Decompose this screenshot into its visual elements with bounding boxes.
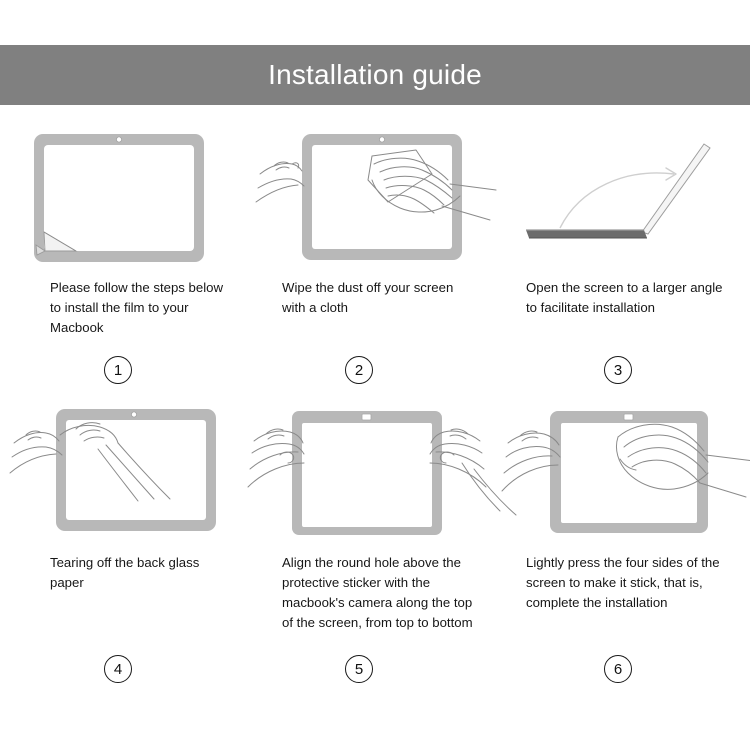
step-2-caption: Wipe the dust off your screen with a clo… [264,278,486,318]
step-5-caption: Align the round hole above the protectiv… [264,553,486,633]
step-item-5: Align the round hole above the protectiv… [250,403,500,678]
step-item-1: Please follow the steps below to install… [0,128,250,403]
step-3-number-badge: 3 [604,356,632,384]
steps-grid: Please follow the steps below to install… [0,128,750,678]
hand-pressing-screen-icon [514,403,750,543]
step-item-3: Open the screen to a larger angle to fac… [500,128,750,403]
step-item-4: Tearing off the back glass paper 4 [0,403,250,678]
step-6-illustration [514,403,736,543]
installation-guide-banner: Installation guide [0,45,750,105]
hand-tearing-backing-paper-icon [14,403,264,543]
step-4-number-badge: 4 [104,655,132,683]
step-1-caption: Please follow the steps below to install… [14,278,236,338]
step-4-illustration [14,403,236,543]
step-1-number-badge: 1 [104,356,132,384]
step-6-number-badge: 6 [604,655,632,683]
macbook-screen-peeling-film-icon [14,128,264,268]
step-4-caption: Tearing off the back glass paper [14,553,236,593]
step-1-illustration [14,128,236,268]
laptop-open-lid-icon [514,128,750,268]
step-item-2: Wipe the dust off your screen with a clo… [250,128,500,403]
step-5-number-badge: 5 [345,655,373,683]
step-2-number-badge: 2 [345,356,373,384]
two-hands-aligning-film-icon [264,403,514,543]
step-item-6: Lightly press the four sides of the scre… [500,403,750,678]
step-3-caption: Open the screen to a larger angle to fac… [514,278,736,318]
step-6-caption: Lightly press the four sides of the scre… [514,553,736,613]
step-5-illustration [264,403,486,543]
page-title: Installation guide [268,61,482,89]
step-3-illustration [514,128,736,268]
step-2-illustration [264,128,486,268]
hand-wiping-screen-icon [264,128,514,268]
